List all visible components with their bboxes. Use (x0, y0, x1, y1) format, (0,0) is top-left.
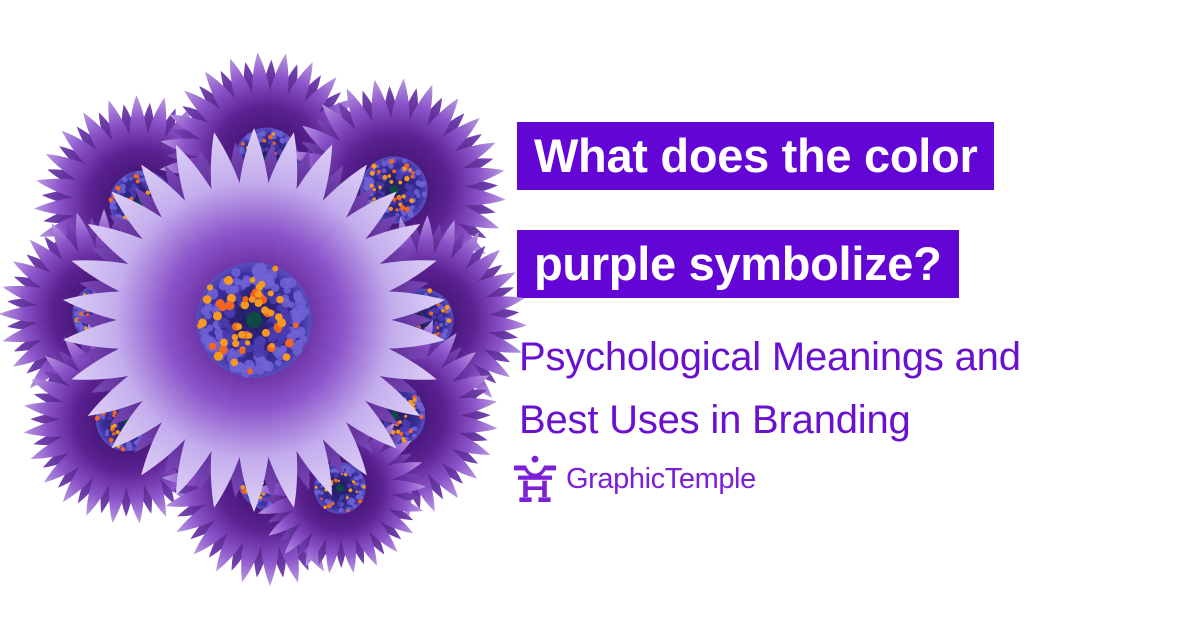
brand-logo[interactable]: GraphicTemple (512, 455, 756, 503)
subtitle-line-2: Best Uses in Branding (519, 389, 1157, 452)
daisy-flower (56, 122, 452, 518)
text-content: What does the color purple symbolize? Ps… (517, 122, 1157, 452)
headline-line-2-wrap: purple symbolize? (517, 230, 1157, 298)
headline-line-1: What does the color (517, 122, 994, 190)
brand-logo-text: GraphicTemple (566, 465, 756, 494)
purple-daisy-bouquet-image (22, 98, 492, 530)
poster-canvas: What does the color purple symbolize? Ps… (0, 0, 1200, 628)
headline-line-2: purple symbolize? (517, 230, 959, 298)
torii-gate-icon (512, 455, 558, 503)
subtitle-line-1: Psychological Meanings and (519, 326, 1157, 389)
subtitle: Psychological Meanings and Best Uses in … (519, 326, 1157, 452)
flower-cluster (22, 98, 492, 530)
headline-line-1-wrap: What does the color (517, 122, 1157, 190)
